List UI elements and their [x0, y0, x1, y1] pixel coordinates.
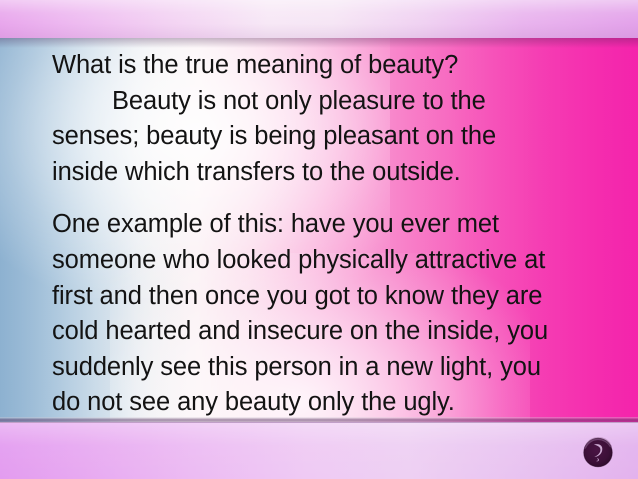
- slide-paragraph-2: One example of this: have you ever met s…: [52, 207, 552, 421]
- presentation-slide: What is the true meaning of beauty? Beau…: [0, 0, 638, 479]
- slide-paragraph-1: Beauty is not only pleasure to the sense…: [52, 84, 552, 191]
- slide-heading-line: What is the true meaning of beauty?: [52, 48, 552, 84]
- canvas-top-shade: [0, 38, 638, 48]
- slide-text-block: What is the true meaning of beauty? Beau…: [52, 48, 552, 421]
- bottom-band-sheen: [0, 423, 638, 479]
- slideshare-watermark-logo: [580, 434, 616, 470]
- top-band-sheen: [0, 0, 638, 38]
- slide-paragraph-1-text: Beauty is not only pleasure to the sense…: [52, 87, 496, 186]
